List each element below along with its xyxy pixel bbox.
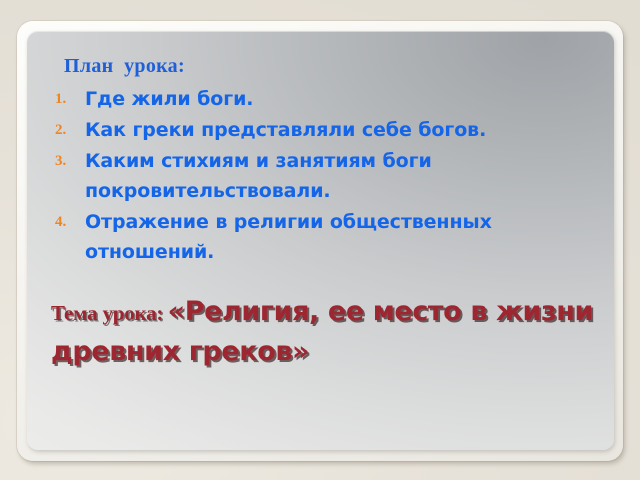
list-item-number: 2. (51, 115, 85, 145)
list-item-label: Где жили боги. (85, 84, 515, 114)
list-item: 4. Отражение в религии общественных отно… (51, 207, 596, 267)
slide-content-inner: План урока: 1. Где жили боги. 2. Как гре… (27, 31, 614, 450)
list-item: 1. Где жили боги. (51, 84, 596, 114)
list-item-label: Как греки представляли себе богов. (85, 115, 515, 145)
list-item-label: Каким стихиям и занятиям боги покровител… (85, 146, 515, 206)
slide-outer-frame: План урока: 1. Где жили боги. 2. Как гре… (17, 21, 623, 461)
plan-heading: План урока: (64, 55, 596, 78)
lesson-theme-label: Тема урока: (51, 301, 163, 325)
lesson-theme-line: Тема урока: «Религия, ее место в жизни д… (51, 294, 596, 374)
list-item-number: 3. (51, 146, 85, 176)
list-item-number: 1. (51, 84, 85, 114)
lesson-theme-block: Тема урока: «Религия, ее место в жизни д… (51, 294, 596, 374)
list-item-number: 4. (51, 207, 85, 237)
plan-list: 1. Где жили боги. 2. Как греки представл… (51, 84, 596, 267)
list-item: 3. Каким стихиям и занятиям боги покрови… (51, 146, 596, 206)
list-item: 2. Как греки представляли себе богов. (51, 115, 596, 145)
list-item-label: Отражение в религии общественных отношен… (85, 207, 515, 267)
slide-stage: План урока: 1. Где жили боги. 2. Как гре… (0, 0, 640, 480)
slide-content-card: План урока: 1. Где жили боги. 2. Как гре… (27, 31, 614, 450)
